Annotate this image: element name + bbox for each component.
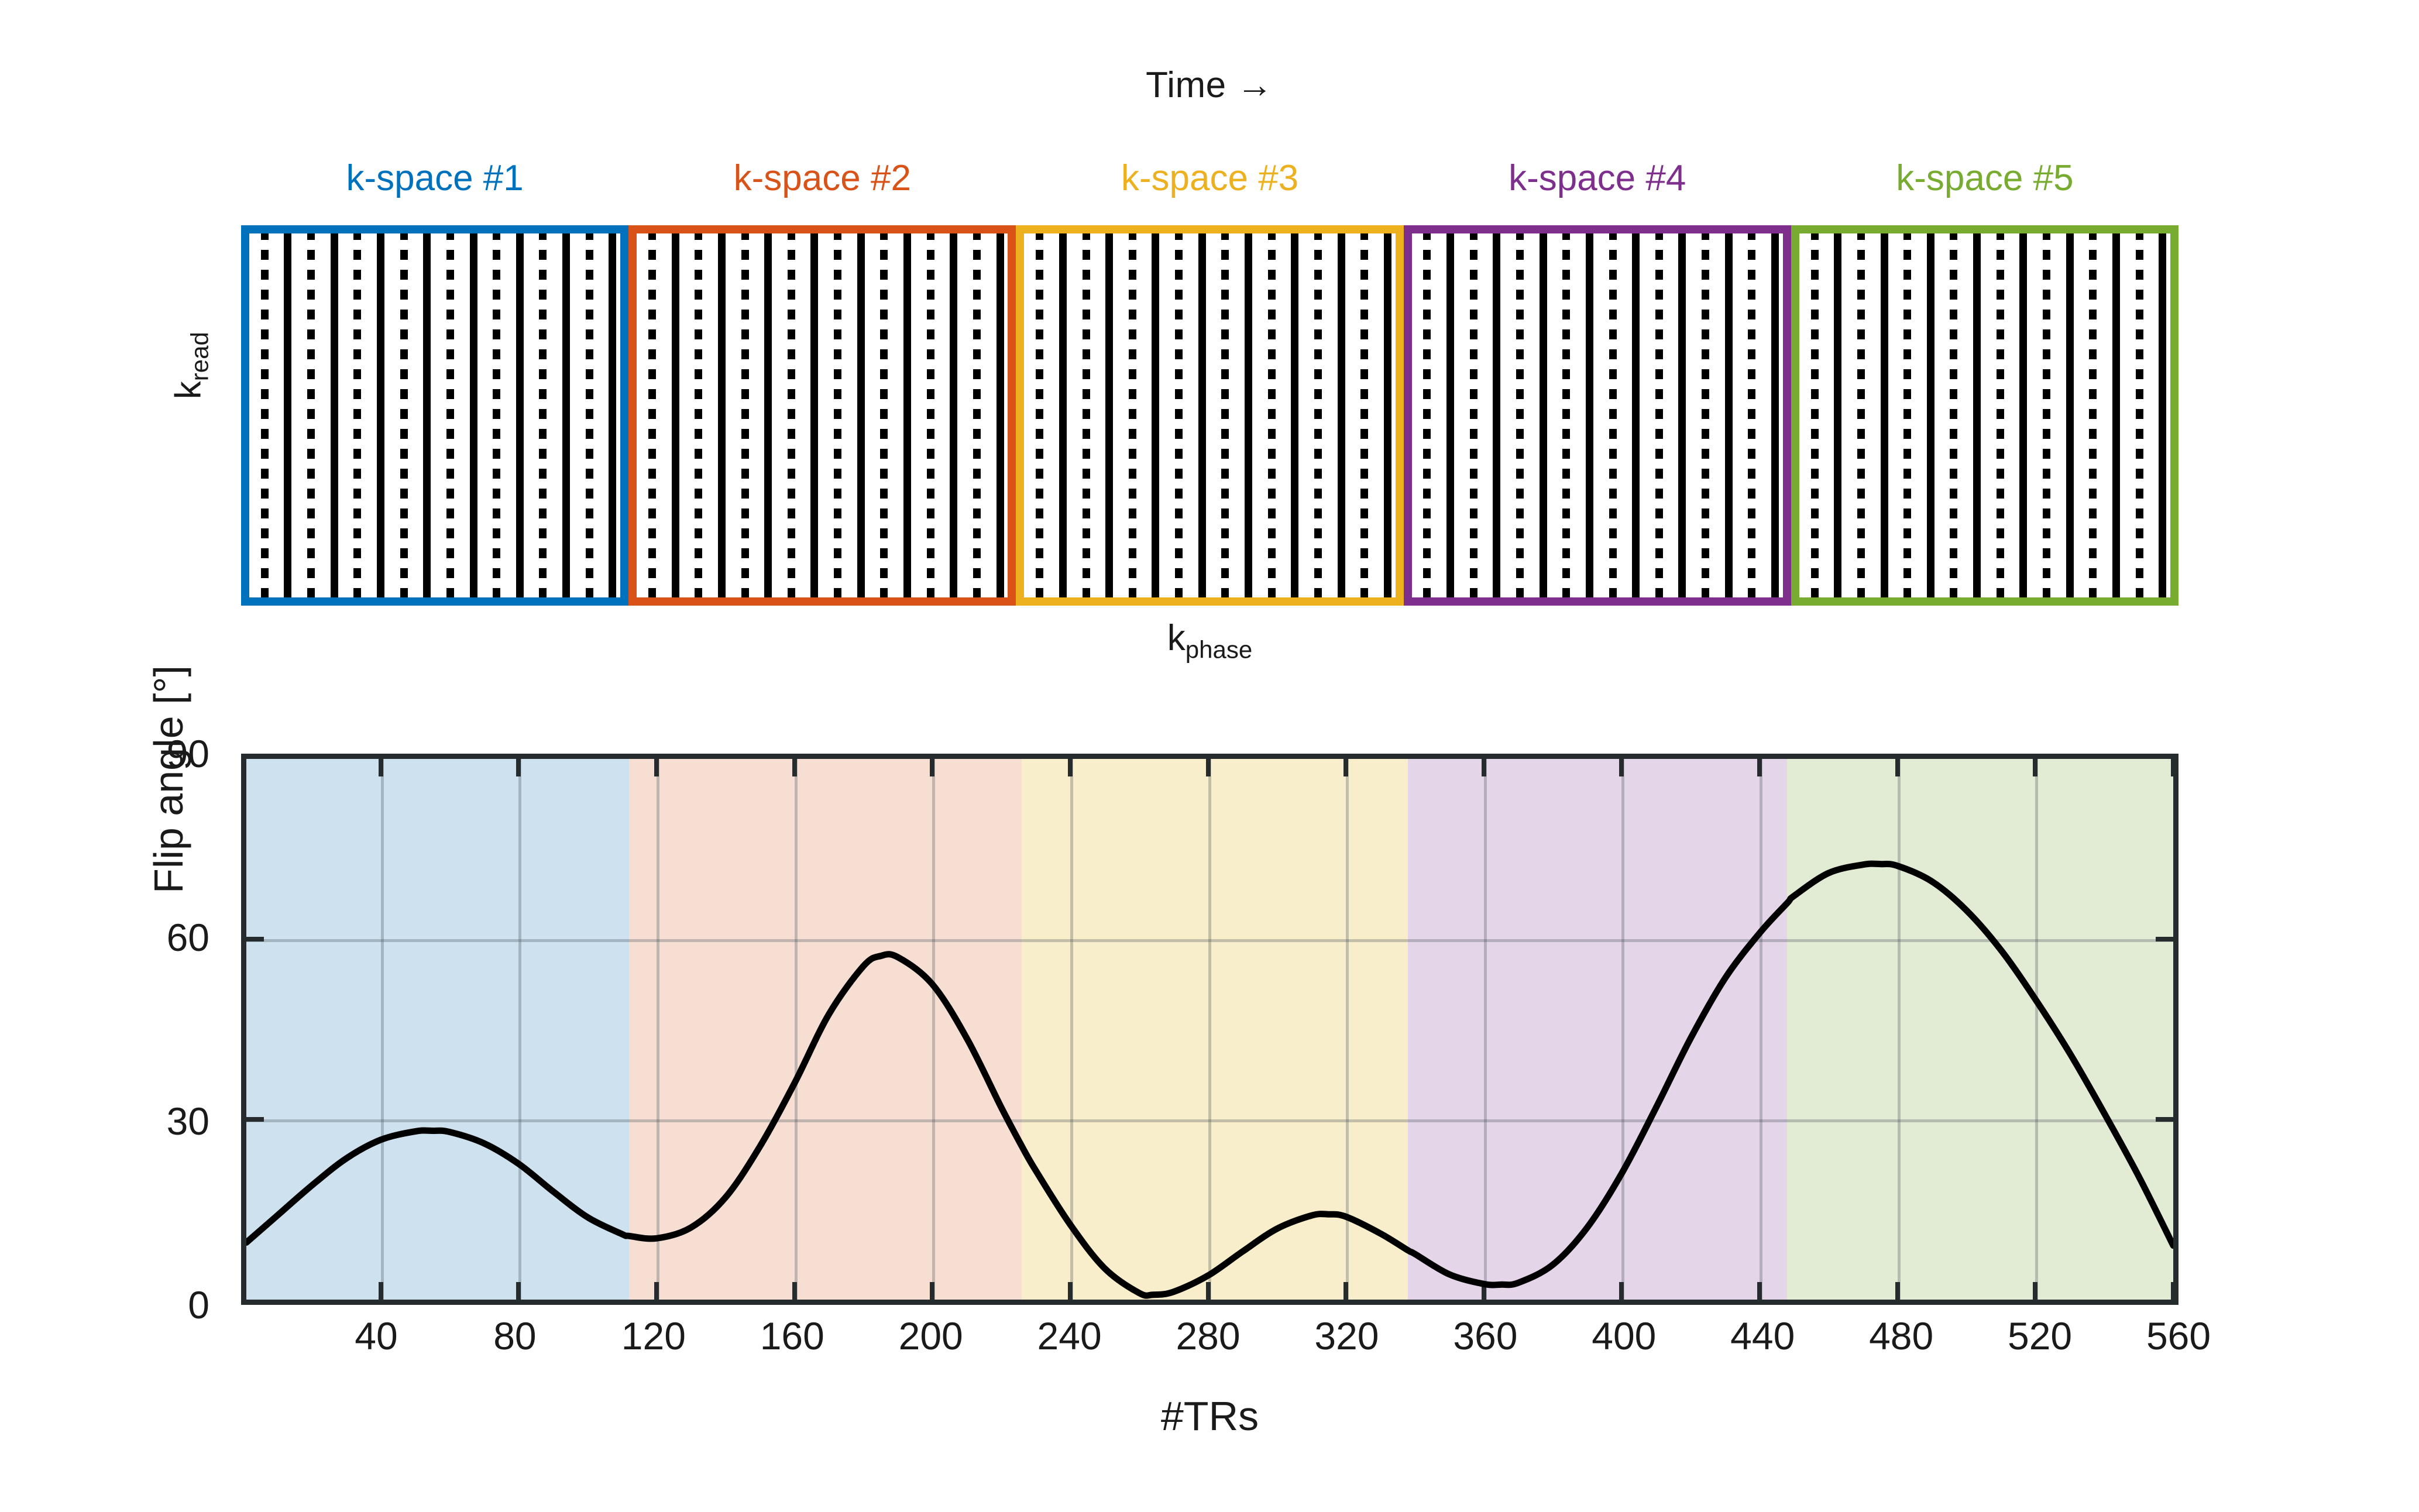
- kspace-solid-line: [857, 230, 865, 601]
- kspace-solid-line: [1291, 230, 1298, 601]
- kspace-solid-line: [2112, 230, 2120, 601]
- flip-angle-plot: [241, 754, 2179, 1305]
- x-axis-label: #TRs: [241, 1393, 2179, 1439]
- x-tick-label-40: 40: [355, 1314, 397, 1358]
- kspace-line-group: [1799, 233, 2170, 597]
- kspace-solid-line: [1881, 230, 1888, 601]
- kspace-solid-line: [1446, 230, 1454, 601]
- kphase-axis-label: kphase: [241, 617, 2179, 664]
- kspace-solid-line: [1834, 230, 1841, 601]
- kspace-dotted-line: [1655, 230, 1663, 601]
- kspace-solid-line: [1632, 230, 1640, 601]
- kspace-dotted-line: [1516, 230, 1524, 601]
- kspace-dotted-line: [539, 230, 547, 601]
- kspace-dotted-line: [648, 230, 656, 601]
- kspace-dotted-line: [880, 230, 888, 601]
- y-tick-labels: 0306090: [0, 754, 228, 1305]
- kspace-solid-line: [2159, 230, 2166, 601]
- kspace-box-4: [1404, 225, 1791, 606]
- kspace-dotted-line: [973, 230, 981, 601]
- kspace-dotted-line: [400, 230, 408, 601]
- kspace-solid-line: [672, 230, 679, 601]
- kspace-solid-line: [1059, 230, 1067, 601]
- kspace-box-1: [241, 225, 628, 606]
- kspace-dotted-line: [446, 230, 454, 601]
- kspace-dotted-line: [261, 230, 269, 601]
- kspace-solid-line: [1338, 230, 1345, 601]
- kspace-dotted-line: [2089, 230, 2097, 601]
- kspace-solid-line: [1725, 230, 1733, 601]
- x-tick-labels: 4080120160200240280320360400440480520560: [241, 1314, 2179, 1372]
- kspace-dotted-line: [927, 230, 934, 601]
- kspace-dotted-line: [1748, 230, 1755, 601]
- kspace-solid-line: [810, 230, 818, 601]
- kspace-dotted-line: [1702, 230, 1709, 601]
- kspace-dotted-line: [1470, 230, 1477, 601]
- kspace-solid-line: [1540, 230, 1547, 601]
- kspace-solid-line: [1245, 230, 1252, 601]
- kspace-label-4: k-space #4: [1404, 146, 1791, 211]
- kspace-dotted-line: [1314, 230, 1322, 601]
- kspace-dotted-line: [1811, 230, 1819, 601]
- kspace-dotted-line: [788, 230, 795, 601]
- kspace-solid-line: [423, 230, 431, 601]
- kread-axis-label: kread: [167, 290, 214, 442]
- y-tick-label-30: 30: [167, 1099, 209, 1143]
- kspace-solid-line: [1198, 230, 1206, 601]
- kspace-dotted-line: [741, 230, 749, 601]
- x-tick-label-520: 520: [2008, 1314, 2072, 1358]
- kspace-dotted-line: [307, 230, 315, 601]
- kspace-dotted-line: [695, 230, 702, 601]
- kspace-solid-line: [997, 230, 1004, 601]
- kspace-dotted-line: [1562, 230, 1570, 601]
- kspace-solid-line: [609, 230, 616, 601]
- kspace-solid-line: [470, 230, 477, 601]
- kspace-label-5: k-space #5: [1791, 146, 2179, 211]
- kspace-solid-line: [331, 230, 338, 601]
- y-tick-label-0: 0: [188, 1283, 209, 1327]
- kspace-dotted-line: [353, 230, 361, 601]
- kspace-dotted-line: [1221, 230, 1229, 601]
- kspace-dotted-line: [586, 230, 593, 601]
- x-tick-label-120: 120: [621, 1314, 686, 1358]
- kspace-dotted-line: [1997, 230, 2004, 601]
- kspace-dotted-line: [493, 230, 500, 601]
- kspace-line-group: [249, 233, 620, 597]
- kspace-solid-line: [1771, 230, 1779, 601]
- kspace-solid-line: [1927, 230, 1934, 601]
- gridline-v-560: [2173, 759, 2176, 1300]
- kspace-dotted-line: [2136, 230, 2143, 601]
- kspace-line-group: [1024, 233, 1395, 597]
- x-tick-label-360: 360: [1453, 1314, 1517, 1358]
- x-tick-label-240: 240: [1037, 1314, 1102, 1358]
- kread-base: k: [168, 381, 208, 399]
- kspace-solid-line: [1678, 230, 1686, 601]
- kspace-dotted-line: [1360, 230, 1368, 601]
- kspace-line-group: [637, 233, 1008, 597]
- kspace-label-2: k-space #2: [628, 146, 1016, 211]
- kspace-solid-line: [1152, 230, 1159, 601]
- kspace-solid-line: [950, 230, 957, 601]
- kphase-base: k: [1167, 618, 1186, 658]
- kspace-solid-line: [1586, 230, 1593, 601]
- kspace-box-2: [628, 225, 1016, 606]
- kspace-dotted-line: [1175, 230, 1183, 601]
- kspace-dotted-line: [1129, 230, 1136, 601]
- kspace-dotted-line: [1903, 230, 1911, 601]
- kspace-dotted-line: [1036, 230, 1043, 601]
- kspace-dotted-line: [834, 230, 841, 601]
- kspace-dotted-line: [1083, 230, 1090, 601]
- kspace-box-5: [1791, 225, 2179, 606]
- x-tick-label-200: 200: [899, 1314, 963, 1358]
- kspace-dotted-line: [1950, 230, 1957, 601]
- kspace-solid-line: [562, 230, 570, 601]
- kspace-solid-line: [1105, 230, 1113, 601]
- kread-subscript: read: [186, 332, 214, 381]
- kspace-dotted-line: [1609, 230, 1617, 601]
- x-tick-label-160: 160: [760, 1314, 824, 1358]
- kspace-dotted-line: [1268, 230, 1276, 601]
- kspace-dotted-line: [2043, 230, 2050, 601]
- y-axis-label: Flip angle [°]: [145, 504, 192, 1054]
- x-tick-label-280: 280: [1176, 1314, 1240, 1358]
- x-tick-label-400: 400: [1592, 1314, 1656, 1358]
- kspace-solid-line: [377, 230, 384, 601]
- kspace-solid-line: [2066, 230, 2074, 601]
- kspace-solid-line: [516, 230, 524, 601]
- kspace-box-3: [1016, 225, 1403, 606]
- kspace-solid-line: [1384, 230, 1391, 601]
- x-tick-label-80: 80: [493, 1314, 536, 1358]
- kspace-solid-line: [764, 230, 772, 601]
- kspace-strip: [241, 225, 2179, 606]
- kspace-line-group: [1412, 233, 1783, 597]
- x-tick-label-560: 560: [2146, 1314, 2211, 1358]
- kspace-solid-line: [1973, 230, 1981, 601]
- kspace-solid-line: [2019, 230, 2027, 601]
- x-tick-label-320: 320: [1314, 1314, 1379, 1358]
- kspace-solid-line: [1493, 230, 1500, 601]
- x-tick-label-480: 480: [1869, 1314, 1933, 1358]
- kspace-dotted-line: [1423, 230, 1431, 601]
- kspace-solid-line: [718, 230, 726, 601]
- time-arrow-title: Time →: [0, 64, 2419, 106]
- kspace-label-3: k-space #3: [1016, 146, 1403, 211]
- kspace-label-row: k-space #1k-space #2k-space #3k-space #4…: [241, 146, 2179, 211]
- kspace-solid-line: [284, 230, 291, 601]
- kspace-solid-line: [903, 230, 911, 601]
- x-tick-label-440: 440: [1730, 1314, 1795, 1358]
- kphase-subscript: phase: [1186, 635, 1252, 663]
- kspace-dotted-line: [1857, 230, 1865, 601]
- flip-angle-curve: [246, 759, 2173, 1300]
- kspace-label-1: k-space #1: [241, 146, 628, 211]
